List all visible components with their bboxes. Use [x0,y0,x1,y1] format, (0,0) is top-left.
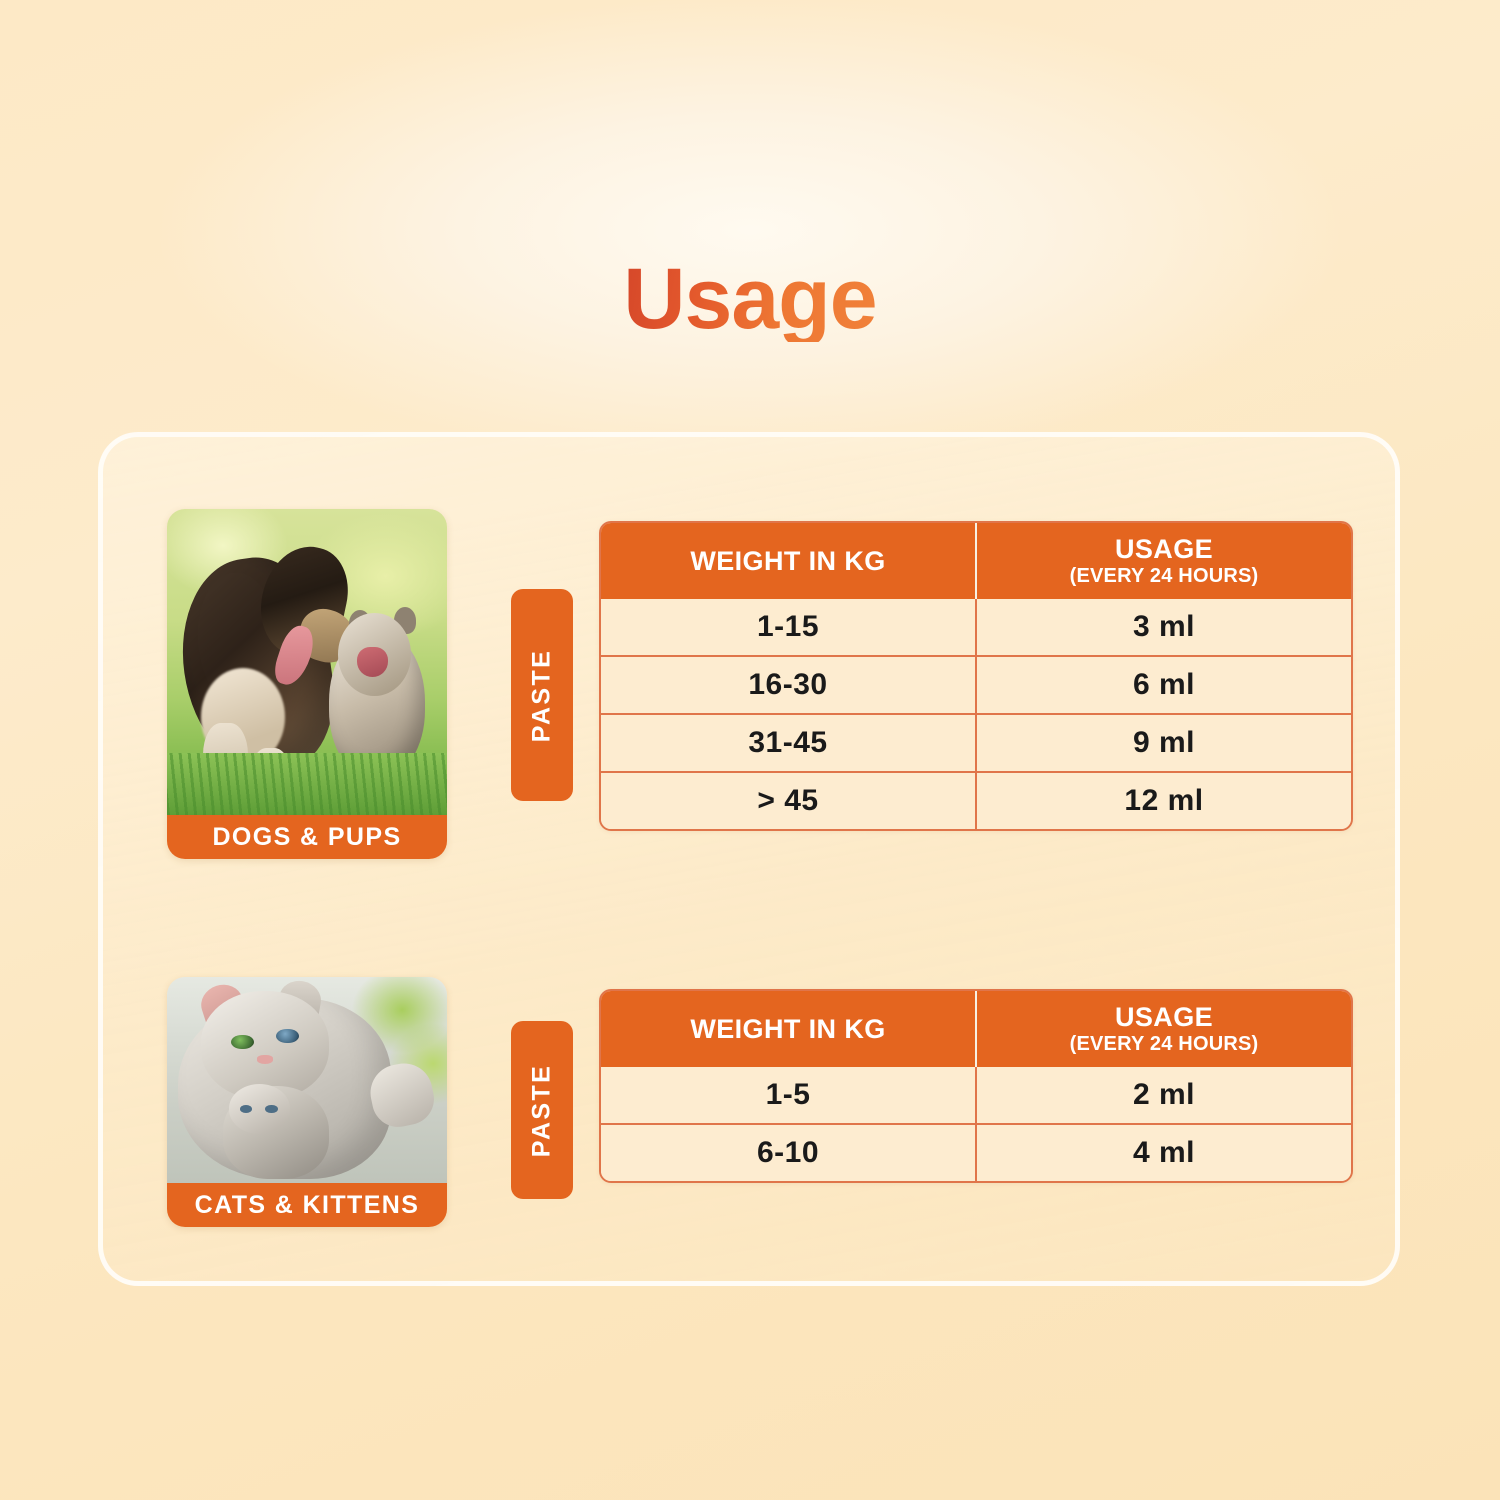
cell-usage: 12 ml [976,772,1351,829]
cat-head-shape [201,991,330,1098]
page-title: Usage [623,256,876,342]
table-row: > 45 12 ml [601,772,1351,829]
dogs-photo [167,509,447,815]
cell-usage: 6 ml [976,656,1351,714]
column-header-usage-main: USAGE [977,1002,1351,1032]
cat-nose-shape [257,1055,274,1063]
column-header-weight: WEIGHT IN KG [601,523,976,599]
grass-foreground [167,753,447,815]
column-header-usage-main: USAGE [977,534,1351,564]
cats-photo-scene [167,977,447,1183]
usage-card: DOGS & PUPS PASTE WEIGHT IN KG USAGE [98,432,1400,1286]
photo-card-dogs: DOGS & PUPS [167,509,447,859]
usage-section-cats: CATS & KITTENS PASTE WEIGHT IN KG USAGE [167,977,1353,1227]
cat-eye-left-shape [231,1035,253,1049]
paste-tab-dogs: PASTE [511,589,573,801]
kitten-eye-right-shape [265,1105,278,1113]
table-row: 6-10 4 ml [601,1124,1351,1181]
kitten-head-shape [229,1084,291,1133]
column-header-usage-sub: (EVERY 24 HOURS) [977,1032,1351,1056]
photo-caption-cats: CATS & KITTENS [167,1183,447,1227]
photo-card-cats: CATS & KITTENS [167,977,447,1227]
cell-weight: 16-30 [601,656,976,714]
cell-usage: 4 ml [976,1124,1351,1181]
cell-usage: 9 ml [976,714,1351,772]
cell-weight: 31-45 [601,714,976,772]
usage-table-dogs: WEIGHT IN KG USAGE (EVERY 24 HOURS) 1-15… [599,521,1353,831]
usage-table-cats: WEIGHT IN KG USAGE (EVERY 24 HOURS) 1-5 … [599,989,1353,1183]
table-header-row: WEIGHT IN KG USAGE (EVERY 24 HOURS) [601,991,1351,1067]
table-row: 31-45 9 ml [601,714,1351,772]
photo-caption-dogs: DOGS & PUPS [167,815,447,859]
column-header-usage: USAGE (EVERY 24 HOURS) [976,523,1351,599]
table-row: 16-30 6 ml [601,656,1351,714]
column-header-weight: WEIGHT IN KG [601,991,976,1067]
cats-photo [167,977,447,1183]
cell-usage: 3 ml [976,599,1351,656]
column-header-weight-main: WEIGHT IN KG [601,546,975,576]
paste-tab-label-dogs: PASTE [528,648,557,742]
dogs-photo-scene [167,509,447,815]
paste-tab-cats: PASTE [511,1021,573,1199]
cell-usage: 2 ml [976,1067,1351,1124]
cell-weight: 1-15 [601,599,976,656]
usage-section-dogs: DOGS & PUPS PASTE WEIGHT IN KG USAGE [167,509,1353,859]
table-header-row: WEIGHT IN KG USAGE (EVERY 24 HOURS) [601,523,1351,599]
table-row: 1-15 3 ml [601,599,1351,656]
cell-weight: 1-5 [601,1067,976,1124]
title-banner: Usage [0,198,1500,399]
column-header-usage: USAGE (EVERY 24 HOURS) [976,991,1351,1067]
cell-weight: 6-10 [601,1124,976,1181]
table-row: 1-5 2 ml [601,1067,1351,1124]
column-header-weight-main: WEIGHT IN KG [601,1014,975,1044]
paste-tab-label-cats: PASTE [528,1063,557,1157]
cell-weight: > 45 [601,772,976,829]
page-background: Usage [0,0,1500,1500]
column-header-usage-sub: (EVERY 24 HOURS) [977,564,1351,588]
cat-eye-right-shape [276,1029,298,1043]
